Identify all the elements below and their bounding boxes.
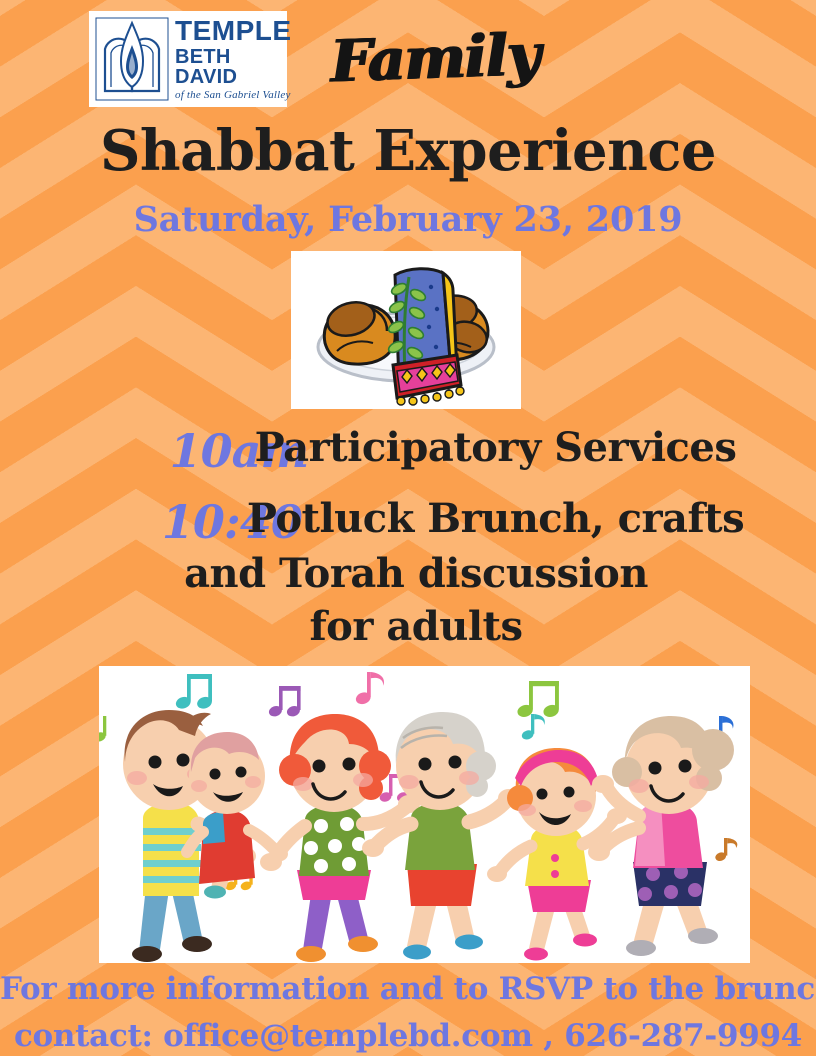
schedule-desc-continued-2: for adults	[8, 603, 816, 650]
schedule-row-1: 10am Participatory Services	[0, 424, 816, 478]
schedule-time-1: 10am	[80, 424, 255, 478]
flyer-page: TEMPLE BETH DAVID of the San Gabriel Val…	[0, 0, 816, 1056]
schedule-row-2: 10:40 Potluck Brunch, crafts	[0, 495, 816, 549]
footer-contact: For more information and to RSVP to the …	[0, 966, 816, 1056]
children-dancing-image	[99, 666, 750, 963]
logo-line-temple: TEMPLE	[175, 17, 292, 45]
children-dancing-illustration	[99, 666, 750, 963]
family-heading: Family	[319, 20, 551, 96]
challah-illustration	[291, 251, 521, 409]
schedule-desc-2: Potluck Brunch, crafts	[247, 495, 744, 542]
event-date: Saturday, February 23, 2019	[0, 199, 816, 240]
schedule-desc-continued-1: and Torah discussion	[8, 550, 816, 597]
temple-logo: TEMPLE BETH DAVID of the San Gabriel Val…	[89, 11, 287, 107]
schedule-desc-1: Participatory Services	[255, 424, 737, 471]
footer-line-2: contact: office@templebd.com , 626-287-9…	[0, 1013, 816, 1056]
footer-line-1: For more information and to RSVP to the …	[0, 966, 816, 1013]
logo-line-subtitle: of the San Gabriel Valley	[175, 90, 292, 101]
challah-image	[291, 251, 521, 409]
logo-wordmark: TEMPLE BETH DAVID of the San Gabriel Val…	[175, 17, 292, 101]
tablets-flame-icon	[95, 17, 169, 101]
schedule-time-2: 10:40	[72, 495, 247, 549]
page-title: Shabbat Experience	[0, 118, 816, 184]
logo-line-beth-david: BETH DAVID	[175, 47, 292, 87]
